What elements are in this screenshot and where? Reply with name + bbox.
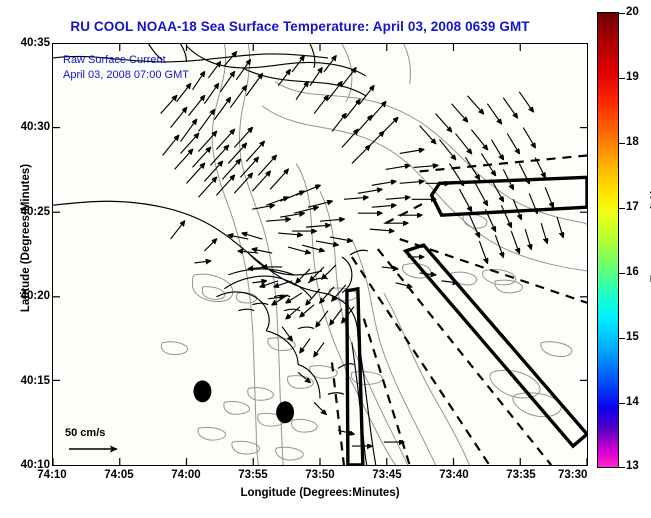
x-tick-8: 73:30	[558, 469, 604, 481]
colorbar-tick-3	[619, 208, 625, 209]
colorbar-label-18: 18	[626, 136, 648, 148]
colorbar-tick-6	[619, 403, 625, 404]
colorbar-tick-2	[619, 143, 625, 144]
colorbar-tick-5	[619, 338, 625, 339]
colorbar-tick-7	[619, 467, 625, 468]
axis-ticks	[53, 44, 587, 465]
scale-legend: 50 cm/s	[65, 427, 135, 464]
y-axis-title: Latitude (Degrees:Minutes)	[20, 118, 32, 358]
x-tick-5: 73:45	[357, 469, 417, 481]
coastline	[53, 44, 376, 465]
colorbar-tick-0	[619, 13, 625, 14]
annotation-line-2: April 03, 2008 07:00 GMT	[63, 68, 189, 83]
x-tick-7: 73:35	[491, 469, 551, 481]
x-tick-1: 74:05	[89, 469, 149, 481]
annotation-line-1: Raw Surface Current	[63, 53, 189, 68]
x-tick-0: 74:10	[22, 469, 82, 481]
colorbar-label-16: 16	[626, 266, 648, 278]
bathymetry-contours	[161, 44, 587, 465]
y-tick-0: 40:35	[4, 37, 50, 49]
scale-legend-label: 50 cm/s	[65, 427, 135, 439]
screenshot-root: RU COOL NOAA-18 Sea Surface Temperature:…	[0, 0, 651, 518]
colorbar-label-15: 15	[626, 331, 648, 343]
colorbar	[597, 12, 619, 468]
x-tick-2: 74:00	[156, 469, 216, 481]
colorbar-tick-1	[619, 78, 625, 79]
scale-arrow-icon	[65, 439, 135, 459]
x-tick-6: 73:40	[424, 469, 484, 481]
colorbar-tick-4	[619, 273, 625, 274]
colorbar-label-13: 13	[626, 460, 648, 472]
y-tick-4: 40:15	[4, 375, 50, 387]
colorbar-label-19: 19	[626, 71, 648, 83]
colorbar-label-17: 17	[626, 201, 648, 213]
x-tick-4: 73:50	[290, 469, 350, 481]
colorbar-label-14: 14	[626, 396, 648, 408]
current-annotation: Raw Surface Current April 03, 2008 07:00…	[63, 53, 189, 83]
page-title: RU COOL NOAA-18 Sea Surface Temperature:…	[0, 19, 600, 34]
x-axis-title: Longitude (Degrees:Minutes)	[52, 487, 588, 499]
station-marker[interactable]	[193, 380, 211, 402]
colorbar-label-20: 20	[626, 6, 648, 18]
shipping-lanes	[347, 177, 587, 465]
station-markers[interactable]	[193, 380, 294, 423]
station-marker[interactable]	[276, 401, 294, 423]
x-tick-3: 73:55	[223, 469, 283, 481]
map-plot-area[interactable]: Raw Surface Current April 03, 2008 07:00…	[52, 43, 588, 466]
map-canvas	[53, 44, 587, 465]
